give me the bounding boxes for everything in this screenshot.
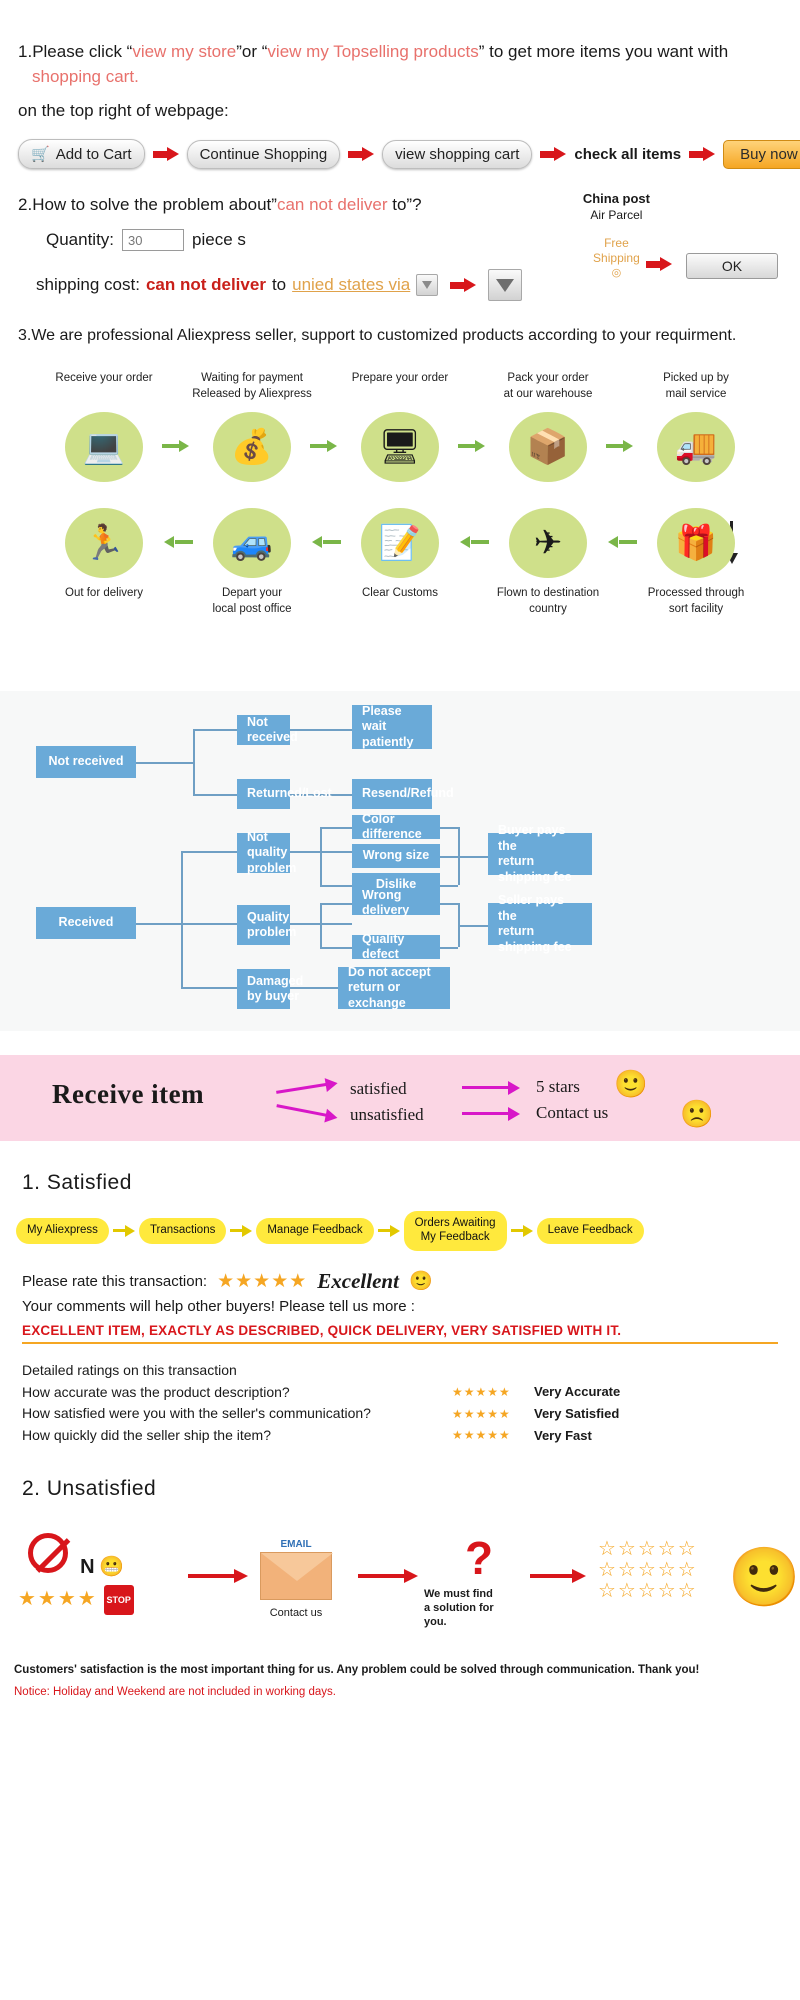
money-bag-icon: 💰 bbox=[213, 412, 291, 482]
airplane-icon: ✈ bbox=[509, 508, 587, 578]
flow-label: Clear Customs bbox=[326, 586, 474, 617]
free-shipping-label: Free Shipping ◎ bbox=[583, 236, 650, 280]
five-stars-label: 5 stars bbox=[536, 1077, 580, 1097]
buy-now-label: Buy now bbox=[740, 146, 798, 163]
flow-step: 💰 bbox=[178, 412, 326, 482]
node-please-wait: Please wait patiently bbox=[352, 705, 432, 749]
section-3-text: We are professional Aliexpress seller, s… bbox=[31, 327, 736, 344]
buy-now-button[interactable]: Buy now bbox=[723, 140, 800, 169]
connector bbox=[440, 947, 458, 949]
section-3: 3.We are professional Aliexpress seller,… bbox=[0, 301, 800, 345]
china-post-block: China post Air Parcel Free Shipping ◎ bbox=[583, 191, 650, 280]
solution-block: ? We must find a solution for you. bbox=[424, 1535, 534, 1630]
cannot-deliver-highlight: can not deliver bbox=[277, 195, 388, 214]
smiley-face-icon: 🙂 bbox=[728, 1549, 800, 1607]
shipping-flow-diagram: Receive your order Waiting for payment R… bbox=[0, 371, 800, 671]
returns-decision-flowchart: Not received Not received Returned/Lost … bbox=[0, 691, 800, 1031]
detailed-rating-row: How satisfied were you with the seller's… bbox=[22, 1403, 800, 1425]
view-shopping-cart-button[interactable]: view shopping cart bbox=[382, 140, 532, 169]
connector bbox=[290, 729, 352, 731]
computer-box-icon: 🖥 bbox=[361, 412, 439, 482]
continue-shopping-button[interactable]: Continue Shopping bbox=[187, 140, 341, 169]
shipping-word: Shipping bbox=[593, 251, 640, 265]
shopping-cart-text: shopping cart. bbox=[32, 65, 782, 90]
flow-label: Flown to destination country bbox=[474, 586, 622, 617]
step-transactions[interactable]: Transactions bbox=[139, 1218, 226, 1244]
feedback-steps-row: My Aliexpress Transactions Manage Feedba… bbox=[16, 1211, 800, 1251]
shipping-flow-top-icons: 💻 💰 🖥 📦 🚚 bbox=[0, 402, 800, 482]
node-not-received-root: Not received bbox=[36, 746, 136, 778]
section-1-text-b: ”or “ bbox=[236, 42, 267, 61]
shipping-flow-bottom-icons: 🏃 🚙 📝 ✈ 🎁 bbox=[0, 482, 800, 578]
chevron-down-icon bbox=[422, 281, 432, 289]
connector bbox=[320, 827, 322, 885]
quantity-row: Quantity: piece s bbox=[46, 229, 782, 251]
van-icon: 🚙 bbox=[213, 508, 291, 578]
flow-label: Out for delivery bbox=[30, 586, 178, 617]
step-orders-awaiting[interactable]: Orders Awaiting My Feedback bbox=[404, 1211, 507, 1251]
country-dropdown[interactable] bbox=[416, 274, 438, 296]
chevron-down-icon bbox=[496, 279, 514, 292]
connector bbox=[181, 923, 237, 925]
node-quality-defect: Quality defect bbox=[352, 935, 440, 959]
info-icon: ◎ bbox=[612, 267, 622, 279]
rating-stars-block: ☆☆☆☆☆ ☆☆☆☆☆ ☆☆☆☆☆ bbox=[598, 1539, 698, 1602]
connector bbox=[458, 856, 488, 858]
flow-step: 🎁 bbox=[622, 508, 770, 578]
node-quality-problem: Quality problem bbox=[237, 905, 290, 945]
flow-step: 🏃 bbox=[30, 508, 178, 578]
flow-step: 🖥 bbox=[326, 412, 474, 482]
add-to-cart-label: Add to Cart bbox=[56, 146, 132, 163]
footnote-text: Customers' satisfaction is the most impo… bbox=[14, 1662, 782, 1679]
node-seller-pays: Seller pays the return shipping fee bbox=[488, 903, 592, 945]
section-1-text-c: ” to get more items you want with bbox=[479, 42, 728, 61]
satisfied-heading: 1. Satisfied bbox=[22, 1171, 800, 1195]
shipping-flow-top-labels: Receive your order Waiting for payment R… bbox=[0, 371, 800, 402]
section-1-line-2: on the top right of webpage: bbox=[18, 101, 782, 121]
section-3-number: 3. bbox=[18, 327, 31, 344]
connector bbox=[458, 925, 488, 927]
comment-text[interactable]: EXCELLENT ITEM, EXACTLY AS DESCRIBED, QU… bbox=[22, 1323, 778, 1344]
flow-label: Picked up by mail service bbox=[622, 371, 770, 402]
node-do-not-accept: Do not accept return or exchange bbox=[338, 967, 450, 1009]
rating-label: Very Accurate bbox=[534, 1382, 620, 1402]
green-arrow-icon bbox=[164, 536, 194, 548]
rating-star-row: ☆☆☆☆☆ bbox=[598, 1539, 698, 1560]
worried-face-icon: 😬 bbox=[99, 1556, 124, 1578]
connector bbox=[320, 903, 352, 905]
connector bbox=[320, 947, 352, 949]
node-wrong-delivery: Wrong delivery bbox=[352, 891, 440, 915]
node-color-difference: Color difference bbox=[352, 815, 440, 839]
view-shopping-cart-label: view shopping cart bbox=[395, 146, 519, 163]
connector bbox=[440, 903, 458, 905]
connector bbox=[193, 729, 195, 795]
rate-label: Please rate this transaction: bbox=[22, 1273, 207, 1290]
section-2: 2.How to solve the problem about”can not… bbox=[0, 169, 800, 301]
flow-step: 💻 bbox=[30, 412, 178, 482]
flow-label: Prepare your order bbox=[326, 371, 474, 402]
red-arrow-icon bbox=[689, 147, 715, 161]
red-arrow-icon bbox=[646, 257, 672, 271]
continue-shopping-label: Continue Shopping bbox=[200, 146, 328, 163]
red-arrow-icon bbox=[348, 147, 374, 161]
unsatisfied-section: 2. Unsatisfied N 😬 ★★★★ STOP EMAIL Conta… bbox=[0, 1477, 800, 1699]
connector bbox=[440, 827, 458, 829]
contact-us-caption: Contact us bbox=[260, 1606, 332, 1620]
no-label: N bbox=[80, 1556, 94, 1578]
running-courier-icon: 🏃 bbox=[65, 508, 143, 578]
rate-transaction-row: Please rate this transaction: ★★★★★ Exce… bbox=[22, 1269, 800, 1294]
rating-stars[interactable]: ★★★★★ bbox=[452, 1405, 534, 1424]
unsatisfied-flow: N 😬 ★★★★ STOP EMAIL Contact us ? We must… bbox=[0, 1525, 800, 1650]
happy-face-icon: 🙂 bbox=[409, 1269, 433, 1293]
parcel-sorting-icon: 🎁 bbox=[657, 508, 735, 578]
free-word: Free bbox=[604, 236, 629, 250]
contact-us-block: EMAIL Contact us bbox=[260, 1539, 332, 1620]
section-2-text-b: to”? bbox=[388, 195, 422, 214]
magenta-arrow-icon bbox=[462, 1107, 520, 1121]
red-arrow-icon bbox=[540, 147, 566, 161]
magenta-arrow-icon bbox=[275, 1099, 339, 1125]
connector bbox=[193, 729, 237, 731]
cart-button-row: 🛒 Add to Cart Continue Shopping view sho… bbox=[18, 139, 782, 169]
step-leave-feedback[interactable]: Leave Feedback bbox=[537, 1218, 644, 1244]
check-all-items-label: check all items bbox=[574, 146, 681, 163]
rating-word: Excellent bbox=[317, 1269, 399, 1294]
red-arrow-icon bbox=[153, 147, 179, 161]
flow-label: Receive your order bbox=[30, 371, 178, 402]
yellow-arrow-icon bbox=[511, 1225, 533, 1237]
satisfied-label: satisfied bbox=[350, 1079, 407, 1099]
green-arrow-icon bbox=[608, 536, 638, 548]
worker-packing-icon: 📦 bbox=[509, 412, 587, 482]
shipping-cost-row: shipping cost:can not deliver to unied s… bbox=[36, 269, 782, 301]
flow-step: 🚙 bbox=[178, 508, 326, 578]
rating-question: How accurate was the product description… bbox=[22, 1382, 452, 1404]
instructions-page: 1.Please click “view my store”or “view m… bbox=[0, 0, 800, 1698]
rating-question: How quickly did the seller ship the item… bbox=[22, 1425, 452, 1447]
node-damaged-by-buyer: Damaged by buyer bbox=[237, 969, 290, 1009]
notice-text: Notice: Holiday and Weekend are not incl… bbox=[14, 1686, 782, 1698]
no-stars-block: N 😬 ★★★★ STOP bbox=[18, 1533, 134, 1615]
question-mark-icon: ? bbox=[424, 1535, 534, 1581]
view-topselling-products-link[interactable]: view my Topselling products bbox=[267, 42, 478, 61]
red-arrow-icon bbox=[450, 278, 476, 292]
unsatisfied-heading: 2. Unsatisfied bbox=[22, 1477, 800, 1501]
flow-label: Processed through sort facility bbox=[622, 586, 770, 617]
satisfied-section: 1. Satisfied My Aliexpress Transactions … bbox=[0, 1171, 800, 1446]
add-to-cart-button[interactable]: 🛒 Add to Cart bbox=[18, 139, 145, 169]
unsatisfied-label: unsatisfied bbox=[350, 1105, 424, 1125]
magenta-arrow-icon bbox=[275, 1077, 338, 1101]
email-label: EMAIL bbox=[260, 1539, 332, 1550]
rating-star-row: ☆☆☆☆☆ bbox=[598, 1581, 698, 1602]
shipping-method-dropdown[interactable] bbox=[488, 269, 522, 301]
receive-item-title: Receive item bbox=[52, 1079, 204, 1110]
china-post-title: China post bbox=[583, 191, 650, 206]
rating-label: Very Fast bbox=[534, 1426, 592, 1446]
connector bbox=[440, 885, 458, 887]
receive-item-band: Receive item satisfied unsatisfied 5 sta… bbox=[0, 1055, 800, 1141]
rating-stars[interactable]: ★★★★★ bbox=[217, 1270, 307, 1293]
section-2-question: 2.How to solve the problem about”can not… bbox=[18, 195, 782, 215]
flow-step: 📝 bbox=[326, 508, 474, 578]
stop-sign-icon: STOP bbox=[104, 1585, 134, 1615]
node-wrong-size: Wrong size bbox=[352, 844, 440, 868]
yellow-arrow-icon bbox=[230, 1225, 252, 1237]
view-my-store-link[interactable]: view my store bbox=[132, 42, 236, 61]
shipping-country-link[interactable]: unied states via bbox=[292, 275, 410, 295]
green-arrow-icon bbox=[460, 536, 490, 548]
delivery-truck-icon: 🚚 bbox=[657, 412, 735, 482]
node-received-root: Received bbox=[36, 907, 136, 939]
section-1-line-1: 1.Please click “view my store”or “view m… bbox=[18, 40, 782, 89]
big-smiley-block: 🙂 bbox=[728, 1549, 800, 1607]
flow-label: Depart your local post office bbox=[178, 586, 326, 617]
flow-label: Waiting for payment Released by Aliexpre… bbox=[178, 371, 326, 402]
flow-step: 🚚 bbox=[622, 412, 770, 482]
connector bbox=[181, 851, 183, 987]
connector bbox=[136, 762, 194, 764]
prohibited-icon bbox=[28, 1533, 68, 1573]
unsatisfied-stars: ★★★★ bbox=[18, 1589, 98, 1610]
yellow-arrow-icon bbox=[113, 1225, 135, 1237]
connector bbox=[320, 885, 352, 887]
happy-face-icon: 🙂 bbox=[614, 1071, 648, 1098]
comments-label: Your comments will help other buyers! Pl… bbox=[22, 1298, 800, 1315]
detailed-ratings-title: Detailed ratings on this transaction bbox=[22, 1360, 800, 1382]
yellow-arrow-icon bbox=[378, 1225, 400, 1237]
section-1-number: 1. bbox=[18, 42, 32, 61]
step-manage-feedback[interactable]: Manage Feedback bbox=[256, 1218, 373, 1244]
node-not-quality-problem: Not quality problem bbox=[237, 833, 290, 873]
connector bbox=[320, 827, 352, 829]
solution-caption: We must find a solution for you. bbox=[424, 1587, 534, 1630]
section-2-number: 2. bbox=[18, 195, 32, 214]
flow-step: ✈ bbox=[474, 508, 622, 578]
quantity-label: Quantity: bbox=[46, 230, 114, 250]
rating-label: Very Satisfied bbox=[534, 1404, 619, 1424]
green-arrow-icon bbox=[312, 536, 342, 548]
shipping-flow-bottom-labels: Out for delivery Depart your local post … bbox=[0, 586, 800, 617]
quantity-unit: piece s bbox=[192, 230, 246, 250]
section-1-text-a: Please click “ bbox=[32, 42, 132, 61]
china-post-subtitle: Air Parcel bbox=[583, 208, 650, 222]
magenta-arrow-icon bbox=[462, 1081, 520, 1095]
shipping-cost-label: shipping cost: bbox=[36, 275, 140, 295]
email-envelope-icon bbox=[260, 1552, 332, 1600]
quantity-input[interactable] bbox=[122, 229, 184, 251]
flow-step: 📦 bbox=[474, 412, 622, 482]
red-arrow-icon bbox=[188, 1569, 248, 1583]
connector bbox=[136, 923, 182, 925]
red-arrow-icon bbox=[358, 1569, 418, 1583]
ok-label: OK bbox=[722, 258, 742, 274]
shipping-to-text: to bbox=[272, 275, 286, 295]
node-not-received: Not received bbox=[237, 715, 290, 745]
shipping-cannot-deliver: can not deliver bbox=[146, 275, 266, 295]
connector bbox=[440, 856, 458, 858]
step-my-aliexpress[interactable]: My Aliexpress bbox=[16, 1218, 109, 1244]
connector bbox=[181, 987, 237, 989]
node-resend-refund: Resend/Refund bbox=[352, 779, 432, 809]
sad-face-icon: 🙁 bbox=[680, 1101, 714, 1128]
person-at-computer-icon: 💻 bbox=[65, 412, 143, 482]
flow-label: Pack your order at our warehouse bbox=[474, 371, 622, 402]
node-buyer-pays: Buyer pays the return shipping fee bbox=[488, 833, 592, 875]
connector bbox=[181, 851, 237, 853]
red-arrow-icon bbox=[530, 1569, 586, 1583]
contact-us-label: Contact us bbox=[536, 1103, 608, 1123]
shopping-cart-icon: 🛒 bbox=[31, 145, 50, 163]
connector bbox=[193, 794, 237, 796]
ok-button[interactable]: OK bbox=[686, 253, 778, 279]
rating-stars[interactable]: ★★★★★ bbox=[452, 1383, 534, 1402]
rating-stars[interactable]: ★★★★★ bbox=[452, 1426, 534, 1445]
rating-star-row: ☆☆☆☆☆ bbox=[598, 1560, 698, 1581]
connector bbox=[320, 903, 322, 947]
customs-stamp-icon: 📝 bbox=[361, 508, 439, 578]
detailed-rating-row: How accurate was the product description… bbox=[22, 1382, 800, 1404]
section-2-text-a: How to solve the problem about” bbox=[32, 195, 277, 214]
detailed-rating-row: How quickly did the seller ship the item… bbox=[22, 1425, 800, 1447]
rating-question: How satisfied were you with the seller's… bbox=[22, 1403, 452, 1425]
detailed-ratings: Detailed ratings on this transaction How… bbox=[22, 1360, 800, 1447]
node-returned-lost: Returned/Lost bbox=[237, 779, 290, 809]
section-1: 1.Please click “view my store”or “view m… bbox=[0, 0, 800, 169]
